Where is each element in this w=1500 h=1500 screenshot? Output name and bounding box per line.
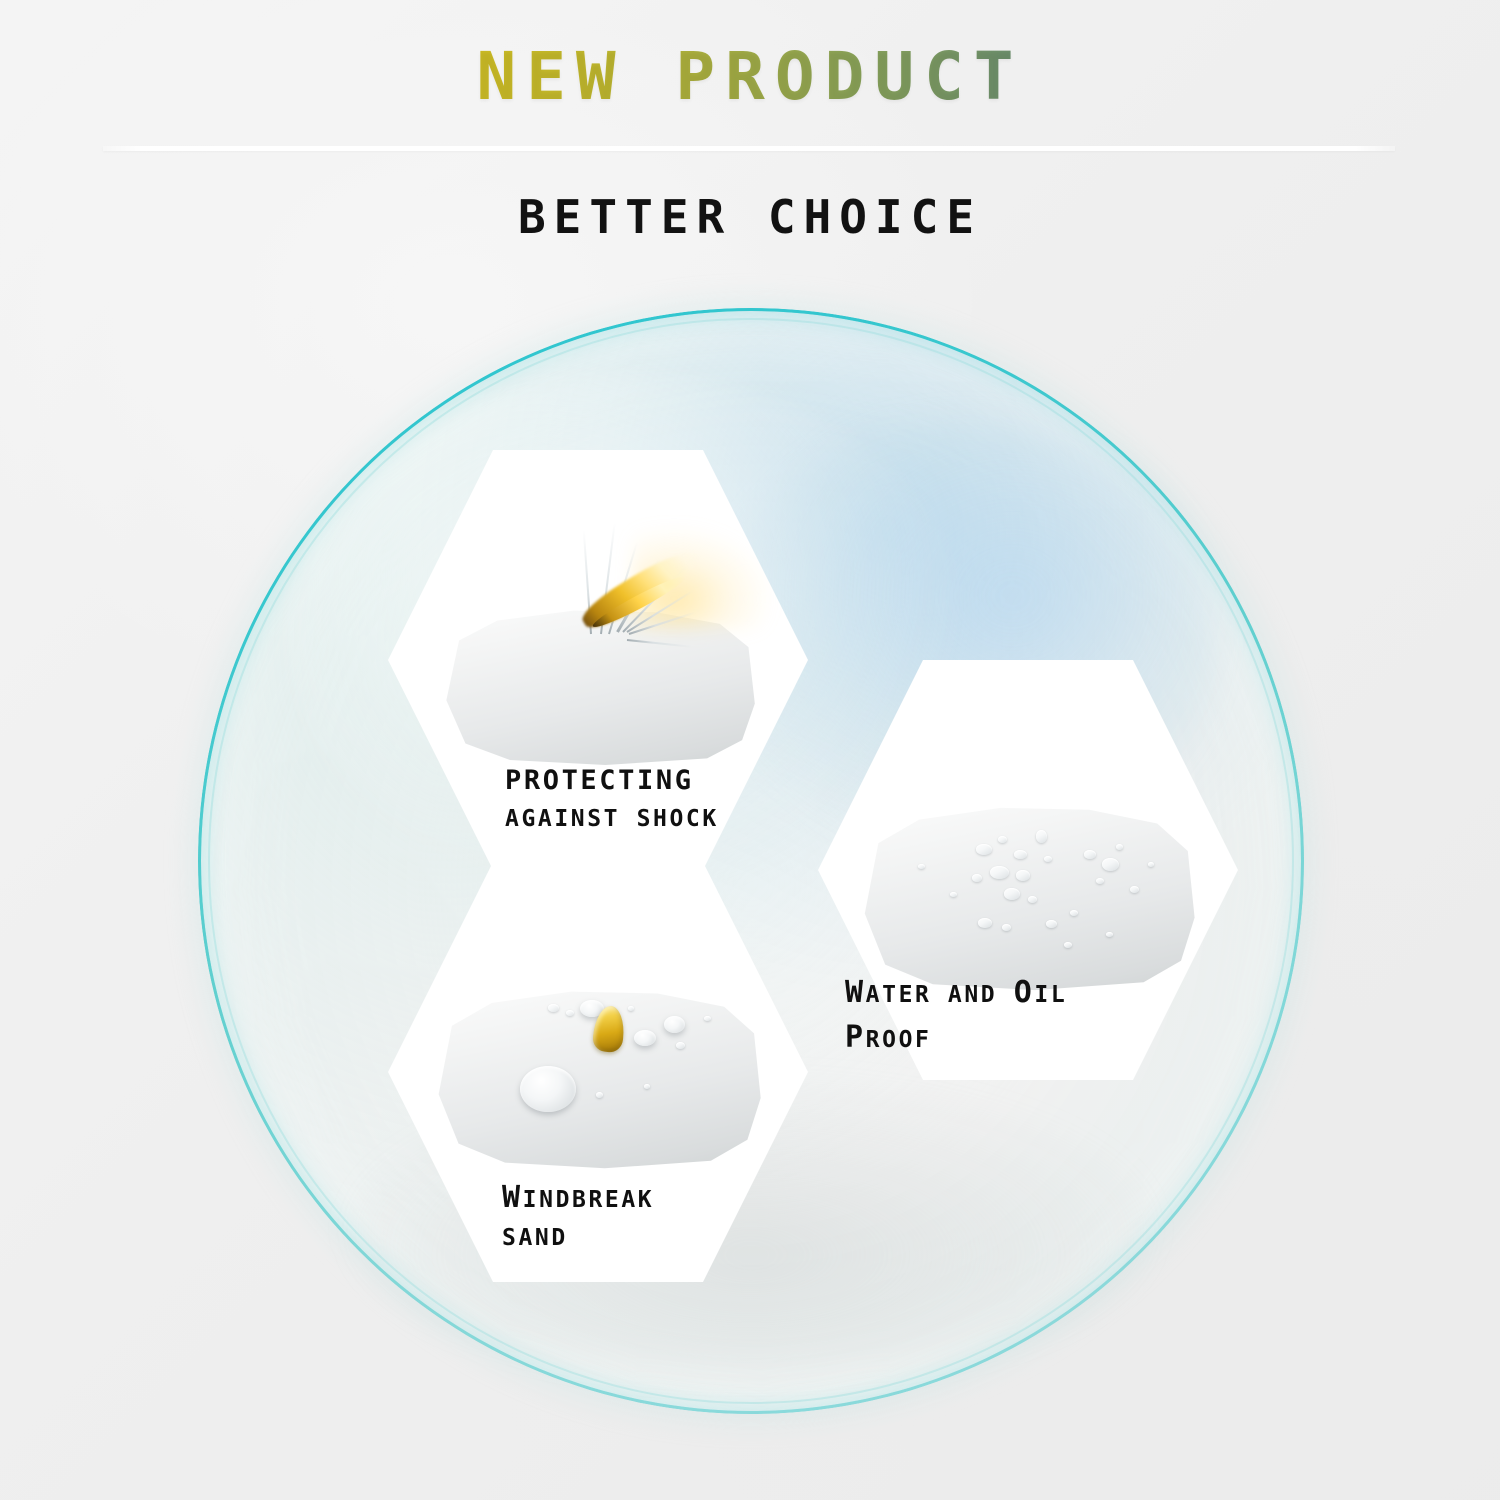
caption-windbreak-sand: WINDBREAK SAND xyxy=(502,1180,654,1251)
page-title: NEW PRODUCT xyxy=(0,38,1500,115)
caption-line-1: WINDBREAK xyxy=(502,1180,654,1215)
caption-line-2: SAND xyxy=(502,1225,654,1251)
product-feature-poster: NEW PRODUCT BETTER CHOICE xyxy=(0,0,1500,1500)
caption-line-2: PROOF xyxy=(845,1020,1067,1055)
caption-protecting-against-shock: PROTECTING AGAINST SHOCK xyxy=(505,765,719,832)
caption-line-1: WATER AND OIL xyxy=(845,975,1067,1010)
lens-image-windbreak xyxy=(432,984,764,1174)
title-divider xyxy=(103,146,1395,151)
lens-image-shock xyxy=(440,604,758,770)
lens-image-water-oil xyxy=(858,800,1198,996)
caption-line-1: PROTECTING xyxy=(505,765,719,796)
caption-water-and-oil-proof: WATER AND OIL PROOF xyxy=(845,975,1067,1055)
caption-line-2: AGAINST SHOCK xyxy=(505,806,719,832)
page-subtitle: BETTER CHOICE xyxy=(0,190,1500,244)
